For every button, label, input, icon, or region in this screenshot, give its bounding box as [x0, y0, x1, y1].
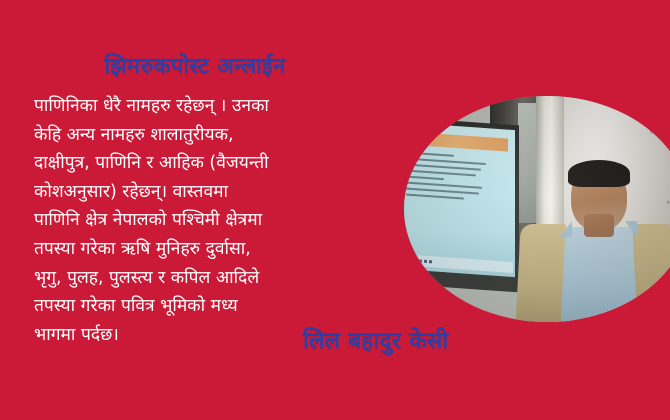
subject-hair: [568, 160, 630, 187]
slide-text-line: [406, 170, 476, 177]
projection-screen-surface: [404, 122, 515, 277]
taskbar-dot: [429, 260, 432, 263]
slide-text-line: [406, 194, 464, 200]
news-poster: झिमरुकपोस्ट अन्लाईन पाणिनिका धेरै नामहरु…: [0, 0, 670, 420]
projection-screen: [404, 116, 518, 292]
portrait-photo: [404, 96, 670, 322]
article-line: पाणिनि क्षेत्र नेपालको पश्चिमी क्षेत्रमा: [34, 206, 364, 235]
subject-vest-right: [632, 224, 670, 322]
subject-person: [518, 164, 670, 322]
slide-text-lines: [406, 152, 489, 240]
article-line: पाणिनिका धेरै नामहरु रहेछन् । उनका: [34, 92, 364, 121]
slide-title-bar: [404, 131, 507, 152]
taskbar-dot: [414, 259, 417, 262]
article-line: भृगु, पुलह, पुलस्त्य र कपिल आदिले: [34, 264, 364, 293]
article-line: तपस्या गरेका ऋषि मुनिहरु दुर्वासा,: [34, 235, 364, 264]
portrait-scene: [404, 96, 670, 322]
masthead-title: झिमरुकपोस्ट अन्लाईन: [0, 54, 390, 79]
taskbar-dot: [404, 258, 407, 261]
taskbar-dot: [419, 259, 422, 262]
article-line: तपस्या गरेका पवित्र भूमिको मध्य: [34, 292, 364, 321]
slide-text-line: [406, 176, 444, 181]
shirt-collar-right: [625, 221, 637, 237]
article-line: कोशअनुसार) रहेछन्। वास्तवमा: [34, 178, 364, 207]
slide-text-line: [406, 152, 454, 157]
subject-vest-left: [516, 224, 566, 322]
slide-taskbar: [404, 255, 513, 273]
article-body: पाणिनिका धेरै नामहरु रहेछन् । उनका केहि …: [34, 92, 364, 349]
shirt-collar-left: [560, 221, 572, 237]
byline-name: लिल बहादुर केसी: [303, 323, 448, 355]
taskbar-dot: [409, 259, 412, 262]
taskbar-dot: [424, 260, 427, 263]
article-line: केहि अन्य नामहरु शालातुरीयक,: [34, 121, 364, 150]
article-line: दाक्षीपुत्र, पाणिनि र आहिक (वैजयन्ती: [34, 149, 364, 178]
